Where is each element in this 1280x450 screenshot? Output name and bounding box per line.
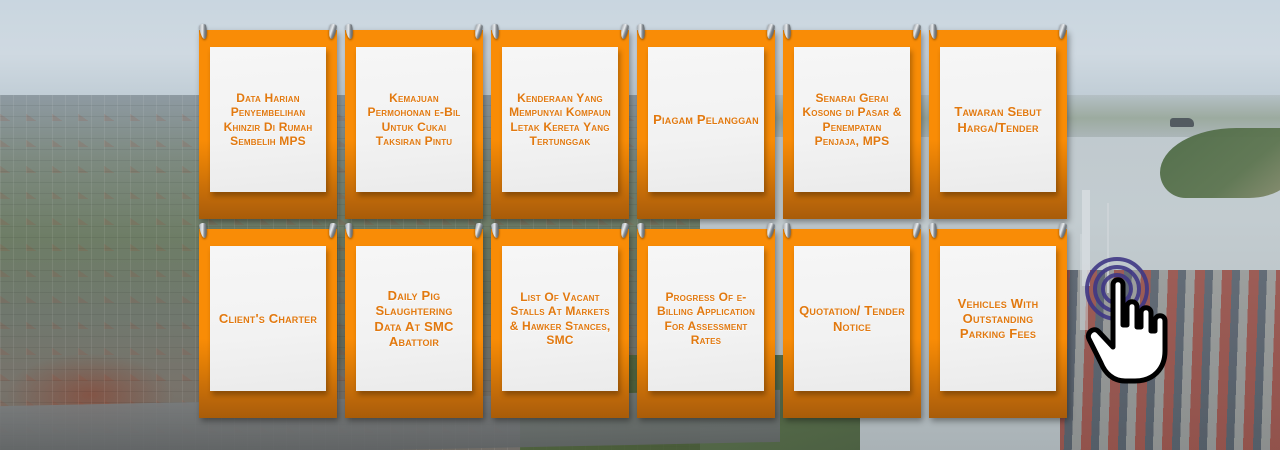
tile-paper: Data Harian Penyembelihan Khinzir Di Rum… <box>210 47 326 192</box>
pin-clip-left-icon <box>345 223 354 239</box>
pin-clip-right-icon <box>912 223 921 239</box>
tile-kenderaan-kompaun-letak-kereta[interactable]: Kenderaan Yang Mempunyai Kompaun Letak K… <box>491 30 629 219</box>
tile-label: Senarai Gerai Kosong di Pasar & Penempat… <box>799 91 905 147</box>
tile-progress-ebilling-application[interactable]: Progress Of e-Billing Application For As… <box>637 229 775 418</box>
tile-tawaran-sebut-harga-tender[interactable]: Tawaran Sebut Harga/Tender <box>929 30 1067 219</box>
page-root: Data Harian Penyembelihan Khinzir Di Rum… <box>0 0 1280 450</box>
tile-row-2: Client's CharterDaily Pig Slaughtering D… <box>199 229 1080 418</box>
background-boat <box>1170 118 1194 127</box>
tile-paper: Kemajuan Permohonan e-Bil Untuk Cukai Ta… <box>356 47 472 192</box>
pin-clip-right-icon <box>328 223 337 239</box>
pin-clip-right-icon <box>912 24 921 40</box>
background-port-containers <box>1060 270 1280 450</box>
tile-label: Progress Of e-Billing Application For As… <box>653 290 759 346</box>
tile-label: Vehicles With Outstanding Parking Fees <box>945 296 1051 342</box>
tile-label: Kenderaan Yang Mempunyai Kompaun Letak K… <box>507 91 613 147</box>
background-port-crane <box>1082 190 1090 286</box>
tile-piagam-pelanggan[interactable]: Piagam Pelanggan <box>637 30 775 219</box>
tile-senarai-gerai-kosong[interactable]: Senarai Gerai Kosong di Pasar & Penempat… <box>783 30 921 219</box>
tile-label: Kemajuan Permohonan e-Bil Untuk Cukai Ta… <box>361 91 467 147</box>
tile-label: Daily Pig Slaughtering Data At SMC Abatt… <box>361 288 467 349</box>
tile-data-harian-penyembelihan[interactable]: Data Harian Penyembelihan Khinzir Di Rum… <box>199 30 337 219</box>
tile-label: Client's Charter <box>219 311 317 326</box>
pin-clip-right-icon <box>1058 24 1067 40</box>
tile-paper: Vehicles With Outstanding Parking Fees <box>940 246 1056 391</box>
tile-row-1: Data Harian Penyembelihan Khinzir Di Rum… <box>199 30 1080 219</box>
tile-paper: List Of Vacant Stalls At Markets & Hawke… <box>502 246 618 391</box>
tile-paper: Daily Pig Slaughtering Data At SMC Abatt… <box>356 246 472 391</box>
pin-clip-right-icon <box>766 24 775 40</box>
tile-paper: Progress Of e-Billing Application For As… <box>648 246 764 391</box>
tile-kemajuan-permohonan-ebil[interactable]: Kemajuan Permohonan e-Bil Untuk Cukai Ta… <box>345 30 483 219</box>
pin-clip-right-icon <box>474 24 483 40</box>
tile-paper: Quotation/ Tender Notice <box>794 246 910 391</box>
tile-paper: Tawaran Sebut Harga/Tender <box>940 47 1056 192</box>
tile-quotation-tender-notice[interactable]: Quotation/ Tender Notice <box>783 229 921 418</box>
pin-clip-right-icon <box>766 223 775 239</box>
tile-label: Quotation/ Tender Notice <box>799 303 905 333</box>
pin-clip-right-icon <box>474 223 483 239</box>
pin-clip-right-icon <box>620 24 629 40</box>
tile-list-of-vacant-stalls[interactable]: List Of Vacant Stalls At Markets & Hawke… <box>491 229 629 418</box>
tile-paper: Client's Charter <box>210 246 326 391</box>
tile-daily-pig-slaughtering-data[interactable]: Daily Pig Slaughtering Data At SMC Abatt… <box>345 229 483 418</box>
pin-clip-right-icon <box>328 24 337 40</box>
pin-clip-right-icon <box>620 223 629 239</box>
tile-grid: Data Harian Penyembelihan Khinzir Di Rum… <box>199 30 1080 418</box>
tile-paper: Kenderaan Yang Mempunyai Kompaun Letak K… <box>502 47 618 192</box>
pin-clip-left-icon <box>929 223 938 239</box>
pin-clip-left-icon <box>637 223 646 239</box>
tile-label: Piagam Pelanggan <box>653 112 759 127</box>
tile-label: Tawaran Sebut Harga/Tender <box>945 104 1051 134</box>
pin-clip-left-icon <box>199 223 208 239</box>
tile-vehicles-outstanding-parking-fees[interactable]: Vehicles With Outstanding Parking Fees <box>929 229 1067 418</box>
pin-clip-left-icon <box>783 223 792 239</box>
tile-paper: Senarai Gerai Kosong di Pasar & Penempat… <box>794 47 910 192</box>
tile-paper: Piagam Pelanggan <box>648 47 764 192</box>
tile-clients-charter[interactable]: Client's Charter <box>199 229 337 418</box>
pin-clip-right-icon <box>1058 223 1067 239</box>
tile-label: List Of Vacant Stalls At Markets & Hawke… <box>507 290 613 346</box>
tile-label: Data Harian Penyembelihan Khinzir Di Rum… <box>215 91 321 147</box>
pin-clip-left-icon <box>491 223 500 239</box>
